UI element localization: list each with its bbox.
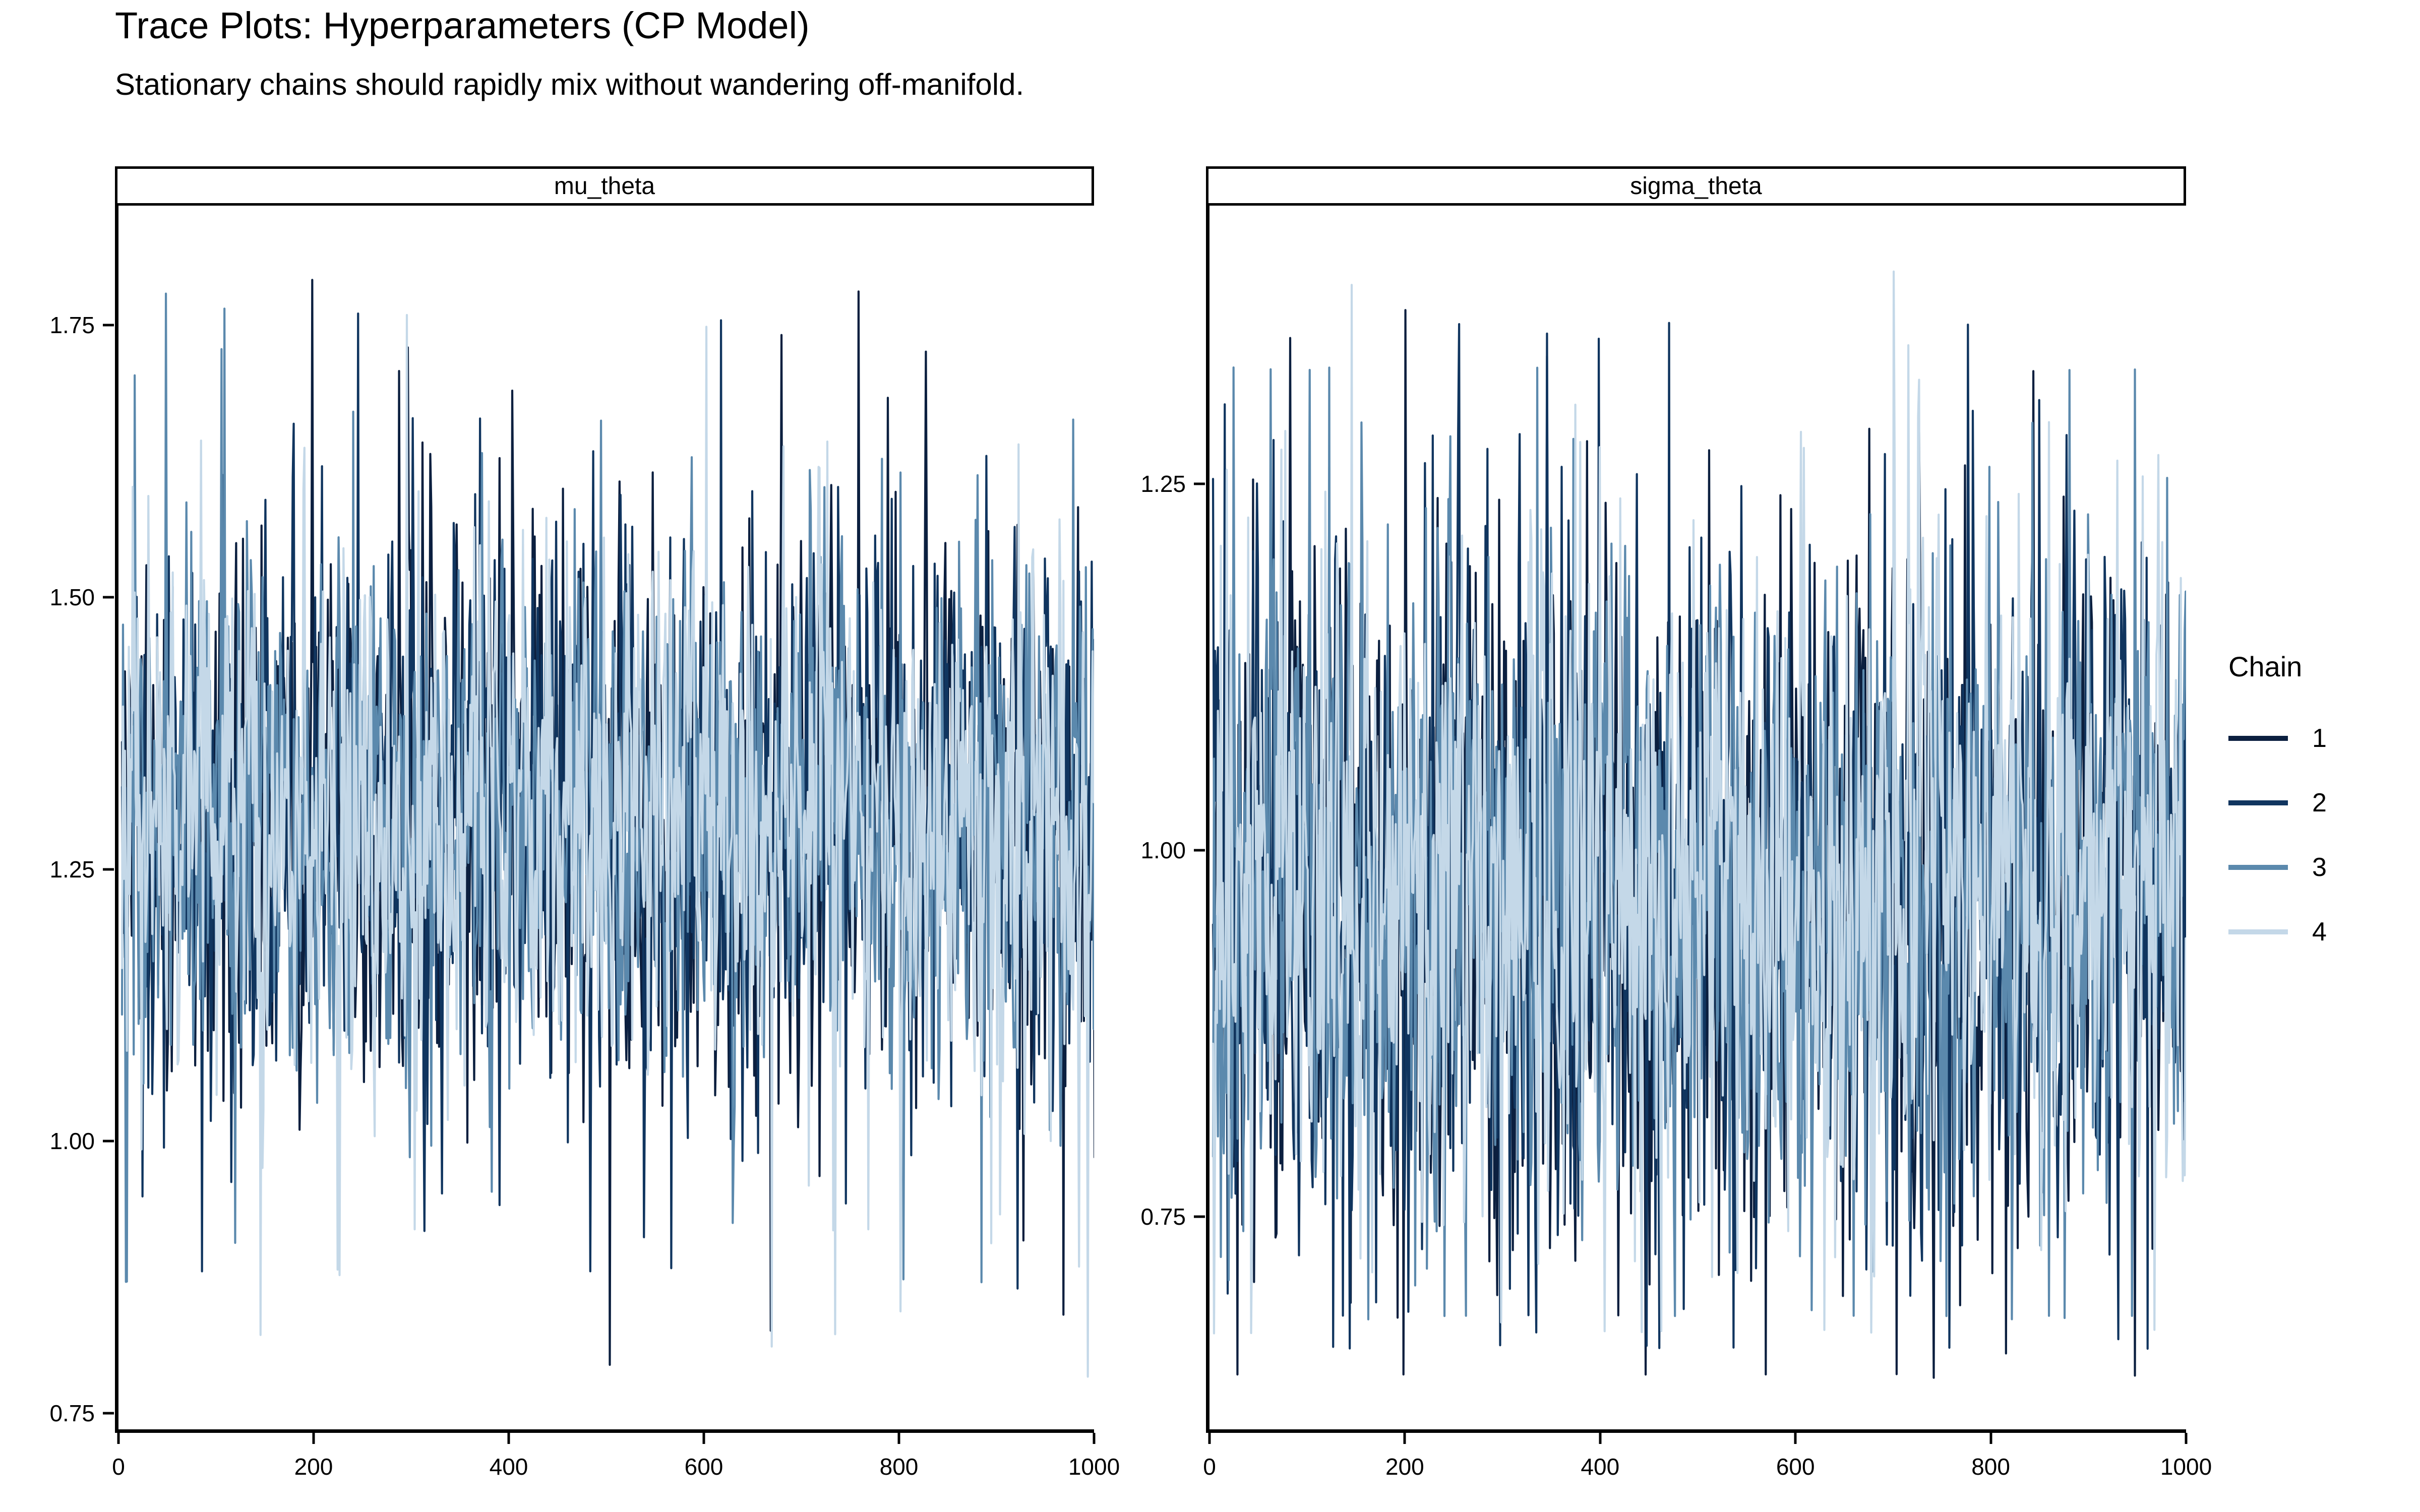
legend-entry-4[interactable]: 4 xyxy=(2228,900,2410,964)
x-axis-tick-mark xyxy=(508,1433,510,1444)
y-axis-tick-label: 1.25 xyxy=(9,856,95,883)
y-axis-tick-label: 1.75 xyxy=(9,311,95,339)
y-axis-tick-label: 1.50 xyxy=(9,584,95,611)
x-axis-tick-label: 200 xyxy=(294,1453,333,1480)
y-axis-tick-mark xyxy=(103,1140,114,1143)
y-axis-tick-mark xyxy=(103,1412,114,1414)
x-axis-tick-mark xyxy=(1208,1433,1211,1444)
x-axis-tick-mark xyxy=(703,1433,705,1444)
facet-strip-mu-theta: mu_theta xyxy=(115,166,1094,206)
page-subtitle: Stationary chains should rapidly mix wit… xyxy=(115,70,1024,100)
legend-entries: 1234 xyxy=(2228,706,2410,964)
x-axis-tick-mark xyxy=(2185,1433,2188,1444)
legend-entry-label: 3 xyxy=(2312,852,2327,883)
y-axis-tick-label: 1.00 xyxy=(1100,837,1186,864)
legend: Chain 1234 xyxy=(2228,650,2410,964)
y-axis-tick-label: 0.75 xyxy=(1100,1203,1186,1230)
x-axis-tick-mark xyxy=(1989,1433,1992,1444)
x-axis-tick-mark xyxy=(1093,1433,1096,1444)
x-axis-tick-mark xyxy=(898,1433,900,1444)
x-axis-tick-label: 800 xyxy=(1971,1453,2010,1480)
legend-key-swatch xyxy=(2228,800,2288,805)
y-axis-tick-label: 1.00 xyxy=(9,1127,95,1155)
x-axis-tick-label: 800 xyxy=(880,1453,919,1480)
x-axis-tick-label: 1000 xyxy=(2160,1453,2212,1480)
x-axis-tick-label: 400 xyxy=(1581,1453,1619,1480)
legend-entry-label: 1 xyxy=(2312,723,2327,753)
x-axis-tick-mark xyxy=(117,1433,120,1444)
legend-key-swatch xyxy=(2228,736,2288,741)
y-axis-tick-mark xyxy=(1194,849,1205,852)
x-axis-tick-mark xyxy=(1599,1433,1601,1444)
legend-entry-3[interactable]: 3 xyxy=(2228,835,2410,900)
x-axis-tick-label: 600 xyxy=(1776,1453,1815,1480)
trace-lines xyxy=(1209,206,2186,1433)
page-title: Trace Plots: Hyperparameters (CP Model) xyxy=(115,7,810,44)
legend-entry-label: 4 xyxy=(2312,917,2327,947)
y-axis-tick-label: 0.75 xyxy=(9,1400,95,1427)
trace-panel-mu-theta xyxy=(115,206,1094,1433)
x-axis-tick-label: 200 xyxy=(1385,1453,1424,1480)
x-axis-tick-label: 600 xyxy=(685,1453,723,1480)
legend-entry-label: 2 xyxy=(2312,788,2327,818)
y-axis-tick-label: 1.25 xyxy=(1100,470,1186,497)
x-axis-tick-label: 0 xyxy=(112,1453,125,1480)
legend-key-swatch xyxy=(2228,865,2288,870)
trace-lines xyxy=(118,206,1094,1433)
x-axis-tick-mark xyxy=(1794,1433,1797,1444)
y-axis-tick-mark xyxy=(1194,483,1205,485)
x-axis-tick-mark xyxy=(1404,1433,1406,1444)
legend-entry-1[interactable]: 1 xyxy=(2228,706,2410,771)
facet-strip-label: mu_theta xyxy=(554,172,655,200)
x-axis-tick-label: 0 xyxy=(1203,1453,1216,1480)
y-axis-tick-mark xyxy=(103,324,114,327)
legend-key-swatch xyxy=(2228,929,2288,934)
x-axis-tick-label: 1000 xyxy=(1068,1453,1120,1480)
y-axis-tick-mark xyxy=(103,868,114,870)
trace-panel-sigma-theta xyxy=(1206,206,2186,1433)
legend-title: Chain xyxy=(2228,650,2410,683)
x-axis-tick-mark xyxy=(313,1433,315,1444)
facet-strip-sigma-theta: sigma_theta xyxy=(1206,166,2186,206)
y-axis-tick-mark xyxy=(1194,1216,1205,1218)
x-axis-tick-label: 400 xyxy=(490,1453,528,1480)
facet-strip-label: sigma_theta xyxy=(1630,172,1762,200)
y-axis-tick-mark xyxy=(103,596,114,598)
legend-entry-2[interactable]: 2 xyxy=(2228,771,2410,835)
